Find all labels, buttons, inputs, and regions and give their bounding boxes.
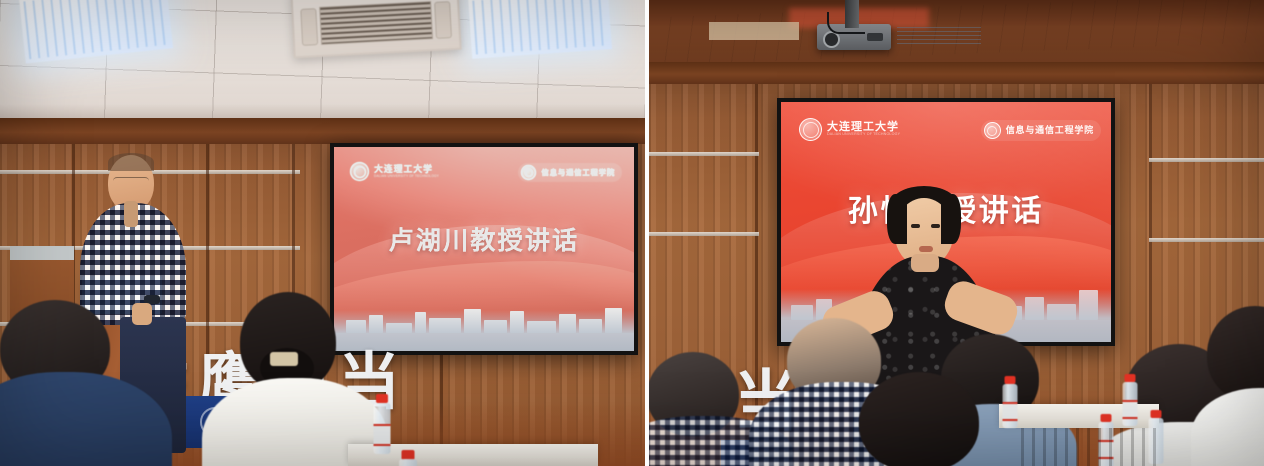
audience-right-6 — [1205, 306, 1264, 466]
audience-head — [859, 372, 979, 466]
panel-divider — [645, 0, 649, 466]
speaker-neck — [911, 254, 939, 272]
ac-side-louvre-right — [434, 1, 453, 39]
photo-panel-left: 大连理工大学 DALIAN UNIVERSITY OF TECHNOLOGY 信… — [0, 0, 645, 466]
wall-trim-strip-4 — [1149, 238, 1264, 242]
speaker-neck — [124, 201, 138, 227]
school-seal-icon — [984, 122, 1001, 139]
audience-shoulders — [0, 372, 172, 466]
water-bottle-left-1 — [372, 394, 392, 454]
wall-header-beam — [0, 118, 645, 144]
wall-trim-strip-3 — [1149, 158, 1264, 162]
podium-left-top-edge — [10, 246, 74, 260]
air-conditioner-unit — [290, 0, 461, 58]
water-bottle-right-2 — [1121, 374, 1139, 426]
bottle-cap — [1151, 410, 1162, 418]
ceiling-light-2 — [468, 0, 612, 59]
slide-logo-school-right: 信息与通信工程学院 — [981, 120, 1101, 141]
ceiling-left — [0, 0, 645, 128]
ceiling-patch — [709, 22, 799, 40]
bottle-cap — [1125, 374, 1136, 382]
wall-trim-strip-2 — [649, 232, 759, 236]
speaker-eye-right — [931, 224, 940, 228]
slide-logo-school-left: 信息与通信工程学院 — [518, 163, 622, 182]
projector-cables — [827, 12, 865, 34]
bottle-cap — [1005, 376, 1016, 384]
ac-vent-grille — [319, 1, 432, 45]
audience-left-1 — [0, 300, 162, 466]
water-bottle-left-2 — [398, 450, 418, 466]
projector-port — [867, 33, 883, 41]
wall-trim-strip-1 — [649, 152, 759, 156]
university-name-en: DALIAN UNIVERSITY OF TECHNOLOGY — [827, 133, 900, 137]
audience-left-2 — [204, 292, 384, 466]
hair-clip-icon — [270, 352, 298, 366]
water-bottle-right-1 — [1001, 376, 1019, 428]
speaker-mouth — [919, 246, 933, 252]
slide-logo-university-right: 大连理工大学 DALIAN UNIVERSITY OF TECHNOLOGY — [799, 118, 900, 141]
school-logo-chip: 信息与通信工程学院 — [518, 163, 622, 182]
audience-right-4 — [831, 372, 1017, 466]
university-seal-icon — [799, 118, 822, 141]
bottle-label — [1003, 402, 1018, 421]
bottle-body — [399, 459, 417, 466]
university-seal-icon — [350, 162, 369, 181]
equipment-grille — [1021, 428, 1161, 466]
bottle-cap — [1101, 414, 1112, 422]
bottle-label — [374, 424, 391, 446]
screenshot-root: 大连理工大学 DALIAN UNIVERSITY OF TECHNOLOGY 信… — [0, 0, 1264, 466]
ceiling-notice-plate — [897, 24, 981, 44]
bottle-cap — [376, 394, 388, 403]
school-name-cn: 信息与通信工程学院 — [541, 169, 615, 177]
speaker-hair-side-left — [887, 194, 907, 244]
speaker-hair — [108, 153, 154, 171]
university-name-en: DALIAN UNIVERSITY OF TECHNOLOGY — [374, 175, 439, 178]
speaker-hair-side-right — [941, 194, 961, 244]
bottle-label — [1123, 400, 1138, 419]
speaker-eye-left — [911, 224, 920, 228]
ac-side-louvre-left — [300, 8, 319, 46]
speaker-glasses — [113, 177, 149, 186]
photo-panel-right: 大连理工大学 DALIAN UNIVERSITY OF TECHNOLOGY 信… — [649, 0, 1264, 466]
slide-logo-university-left: 大连理工大学 DALIAN UNIVERSITY OF TECHNOLOGY — [350, 162, 439, 181]
school-logo-chip: 信息与通信工程学院 — [981, 120, 1101, 141]
wall-header-beam — [649, 62, 1264, 84]
school-seal-icon — [521, 165, 536, 180]
school-name-cn: 信息与通信工程学院 — [1006, 126, 1094, 135]
slide-title-left: 卢湖川教授讲话 — [334, 221, 634, 257]
